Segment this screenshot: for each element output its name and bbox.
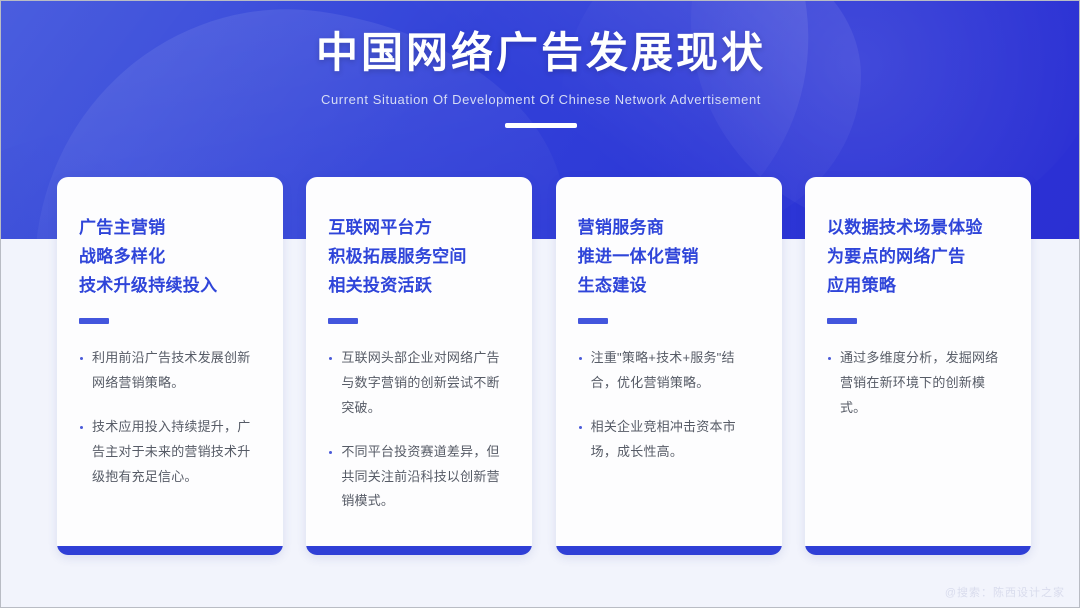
card-divider-rule — [578, 318, 608, 324]
card-bullet-list: 注重"策略+技术+服务"结合，优化营销策略。 相关企业竞相冲击资本市场，成长性高… — [578, 346, 760, 465]
card-divider-rule — [827, 318, 857, 324]
card-heading: 以数据技术场景体验 为要点的网络广告 应用策略 — [827, 213, 1009, 301]
card-accent-bar — [306, 546, 532, 555]
card-divider-rule — [79, 318, 109, 324]
list-item: 通过多维度分析，发掘网络营销在新环境下的创新模式。 — [827, 346, 1009, 421]
card-heading: 互联网平台方 积极拓展服务空间 相关投资活跃 — [328, 213, 510, 301]
list-item: 利用前沿广告技术发展创新网络营销策略。 — [79, 346, 261, 396]
card-divider-rule — [328, 318, 358, 324]
page-title: 中国网络广告发展现状 — [1, 27, 1080, 80]
list-item: 技术应用投入持续提升，广告主对于未来的营销技术升级抱有充足信心。 — [79, 415, 261, 490]
title-underline-rule — [505, 123, 577, 128]
card-heading: 广告主营销 战略多样化 技术升级持续投入 — [79, 213, 261, 301]
card-accent-bar — [57, 546, 283, 555]
title-block: 中国网络广告发展现状 Current Situation Of Developm… — [1, 27, 1080, 128]
list-item: 相关企业竞相冲击资本市场，成长性高。 — [578, 415, 760, 465]
content-card[interactable]: 以数据技术场景体验 为要点的网络广告 应用策略 通过多维度分析，发掘网络营销在新… — [805, 177, 1031, 555]
list-item: 互联网头部企业对网络广告与数字营销的创新尝试不断突破。 — [328, 346, 510, 421]
list-item: 不同平台投资赛道差异，但共同关注前沿科技以创新营销模式。 — [328, 440, 510, 515]
card-accent-bar — [805, 546, 1031, 555]
card-row: 广告主营销 战略多样化 技术升级持续投入 利用前沿广告技术发展创新网络营销策略。… — [57, 177, 1031, 555]
card-bullet-list: 利用前沿广告技术发展创新网络营销策略。 技术应用投入持续提升，广告主对于未来的营… — [79, 346, 261, 490]
card-bullet-list: 互联网头部企业对网络广告与数字营销的创新尝试不断突破。 不同平台投资赛道差异，但… — [328, 346, 510, 515]
content-card[interactable]: 广告主营销 战略多样化 技术升级持续投入 利用前沿广告技术发展创新网络营销策略。… — [57, 177, 283, 555]
watermark-text: @搜索：陈西设计之家 — [945, 584, 1065, 600]
list-item: 注重"策略+技术+服务"结合，优化营销策略。 — [578, 346, 760, 396]
content-card[interactable]: 互联网平台方 积极拓展服务空间 相关投资活跃 互联网头部企业对网络广告与数字营销… — [306, 177, 532, 555]
content-card[interactable]: 营销服务商 推进一体化营销 生态建设 注重"策略+技术+服务"结合，优化营销策略… — [556, 177, 782, 555]
card-heading: 营销服务商 推进一体化营销 生态建设 — [578, 213, 760, 301]
presentation-slide: 中国网络广告发展现状 Current Situation Of Developm… — [0, 0, 1080, 608]
card-accent-bar — [556, 546, 782, 555]
page-subtitle: Current Situation Of Development Of Chin… — [1, 92, 1080, 107]
card-bullet-list: 通过多维度分析，发掘网络营销在新环境下的创新模式。 — [827, 346, 1009, 421]
